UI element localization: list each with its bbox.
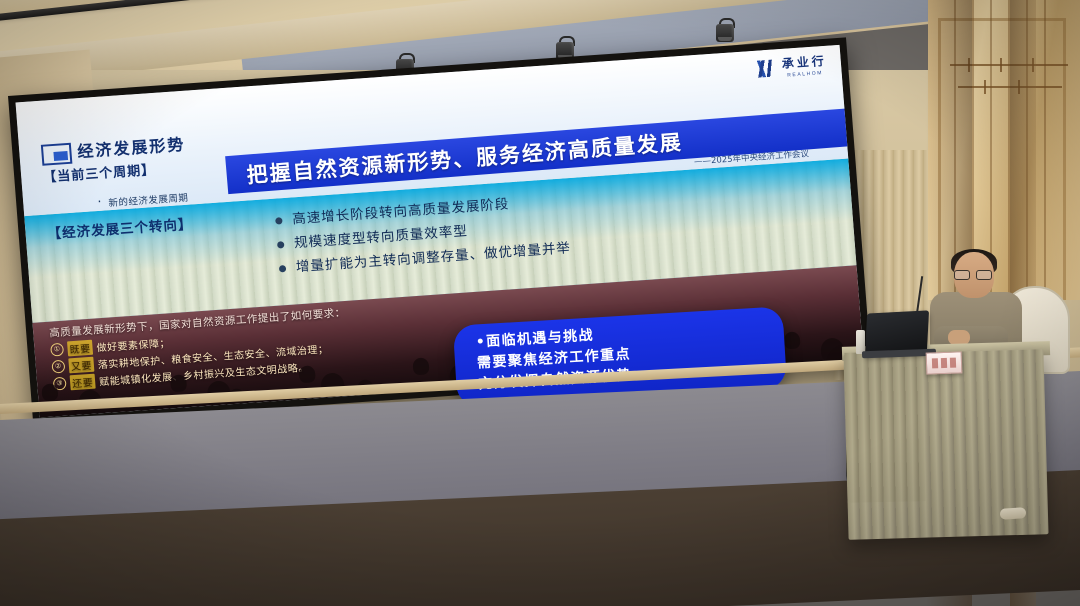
audience-head xyxy=(412,357,429,375)
yy-logo-icon xyxy=(745,59,776,78)
audience-head xyxy=(41,383,58,401)
conference-photo-scene: 承业行 REALHOM 经济发展形势 【当前三个周期】 新的经济发展周期 新的地… xyxy=(0,0,1080,606)
stage-light-icon xyxy=(715,18,735,42)
audience-head xyxy=(299,365,316,383)
company-logo: 承业行 REALHOM xyxy=(745,52,828,82)
audience-head xyxy=(783,332,800,350)
slide-section-title: 经济发展形势 xyxy=(76,131,186,162)
item-number: ① xyxy=(50,343,64,357)
item-number: ② xyxy=(51,360,65,374)
item-highlight: 又要 xyxy=(68,357,94,374)
eyeglasses-icon xyxy=(954,270,992,278)
slide-section-icon xyxy=(41,143,73,166)
group-two-list: 高速增长阶段转向高质量发展阶段 规模速度型转向质量效率型 增量扩能为主转向调整存… xyxy=(235,188,572,283)
logo-chinese-text: 承业行 xyxy=(781,52,827,72)
group-two-heading: 【经济发展三个转向】 xyxy=(47,212,193,242)
item-highlight: 既要 xyxy=(67,340,93,357)
floor-object xyxy=(1000,507,1027,520)
audience-head xyxy=(170,374,187,392)
speaker-nameplate xyxy=(926,351,963,374)
skirted-table-left xyxy=(844,351,925,503)
item-highlight: 还要 xyxy=(70,374,96,391)
